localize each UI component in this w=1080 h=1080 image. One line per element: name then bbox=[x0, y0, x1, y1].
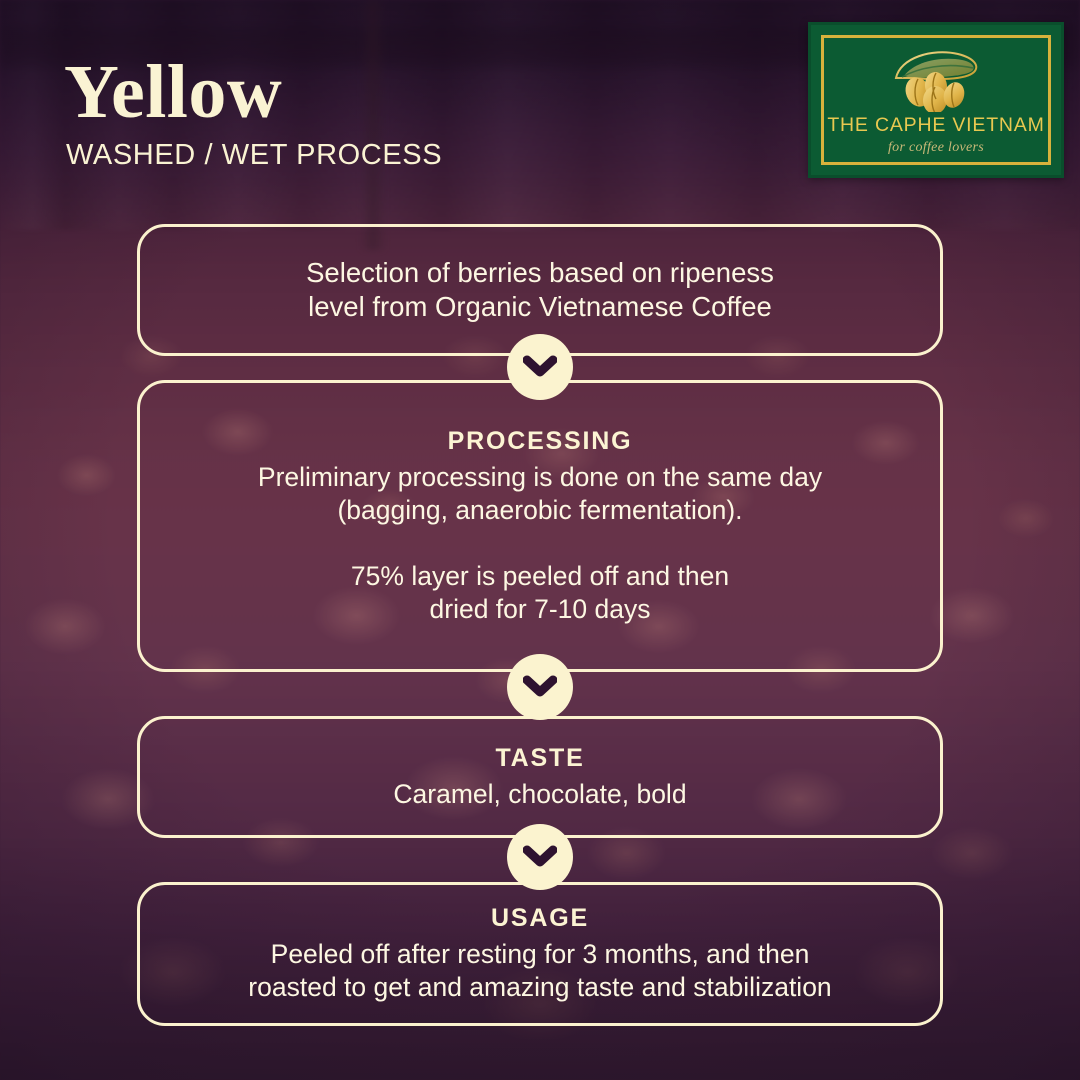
flow-step-selection-body: Selection of berries based on ripeness l… bbox=[306, 256, 774, 324]
flow-step-processing-body: Preliminary processing is done on the sa… bbox=[258, 461, 822, 626]
brand-logo-inner-frame: THE CAPHE VIETNAM for coffee lovers bbox=[821, 35, 1051, 165]
infographic-canvas: Yellow WASHED / WET PROCESS bbox=[0, 0, 1080, 1080]
flow-step-taste: TASTE Caramel, chocolate, bold bbox=[137, 716, 943, 838]
page-title: Yellow bbox=[64, 52, 282, 132]
flow-step-usage: USAGE Peeled off after resting for 3 mon… bbox=[137, 882, 943, 1026]
chevron-down-icon bbox=[507, 334, 573, 400]
coffee-beans-leaf-icon bbox=[874, 48, 998, 112]
flow-step-usage-heading: USAGE bbox=[491, 904, 589, 933]
flow-step-taste-body: Caramel, chocolate, bold bbox=[393, 778, 686, 811]
header: Yellow WASHED / WET PROCESS bbox=[0, 0, 1080, 210]
chevron-down-icon bbox=[507, 824, 573, 890]
flow-step-processing-heading: PROCESSING bbox=[448, 427, 633, 456]
flow-step-usage-body: Peeled off after resting for 3 months, a… bbox=[248, 938, 831, 1004]
page-subtitle: WASHED / WET PROCESS bbox=[66, 138, 442, 172]
flow-step-processing: PROCESSING Preliminary processing is don… bbox=[137, 380, 943, 672]
brand-logo: THE CAPHE VIETNAM for coffee lovers bbox=[808, 22, 1064, 178]
chevron-down-icon bbox=[507, 654, 573, 720]
brand-tagline: for coffee lovers bbox=[888, 140, 984, 156]
brand-name: THE CAPHE VIETNAM bbox=[827, 114, 1044, 137]
flow-step-taste-heading: TASTE bbox=[495, 744, 584, 773]
